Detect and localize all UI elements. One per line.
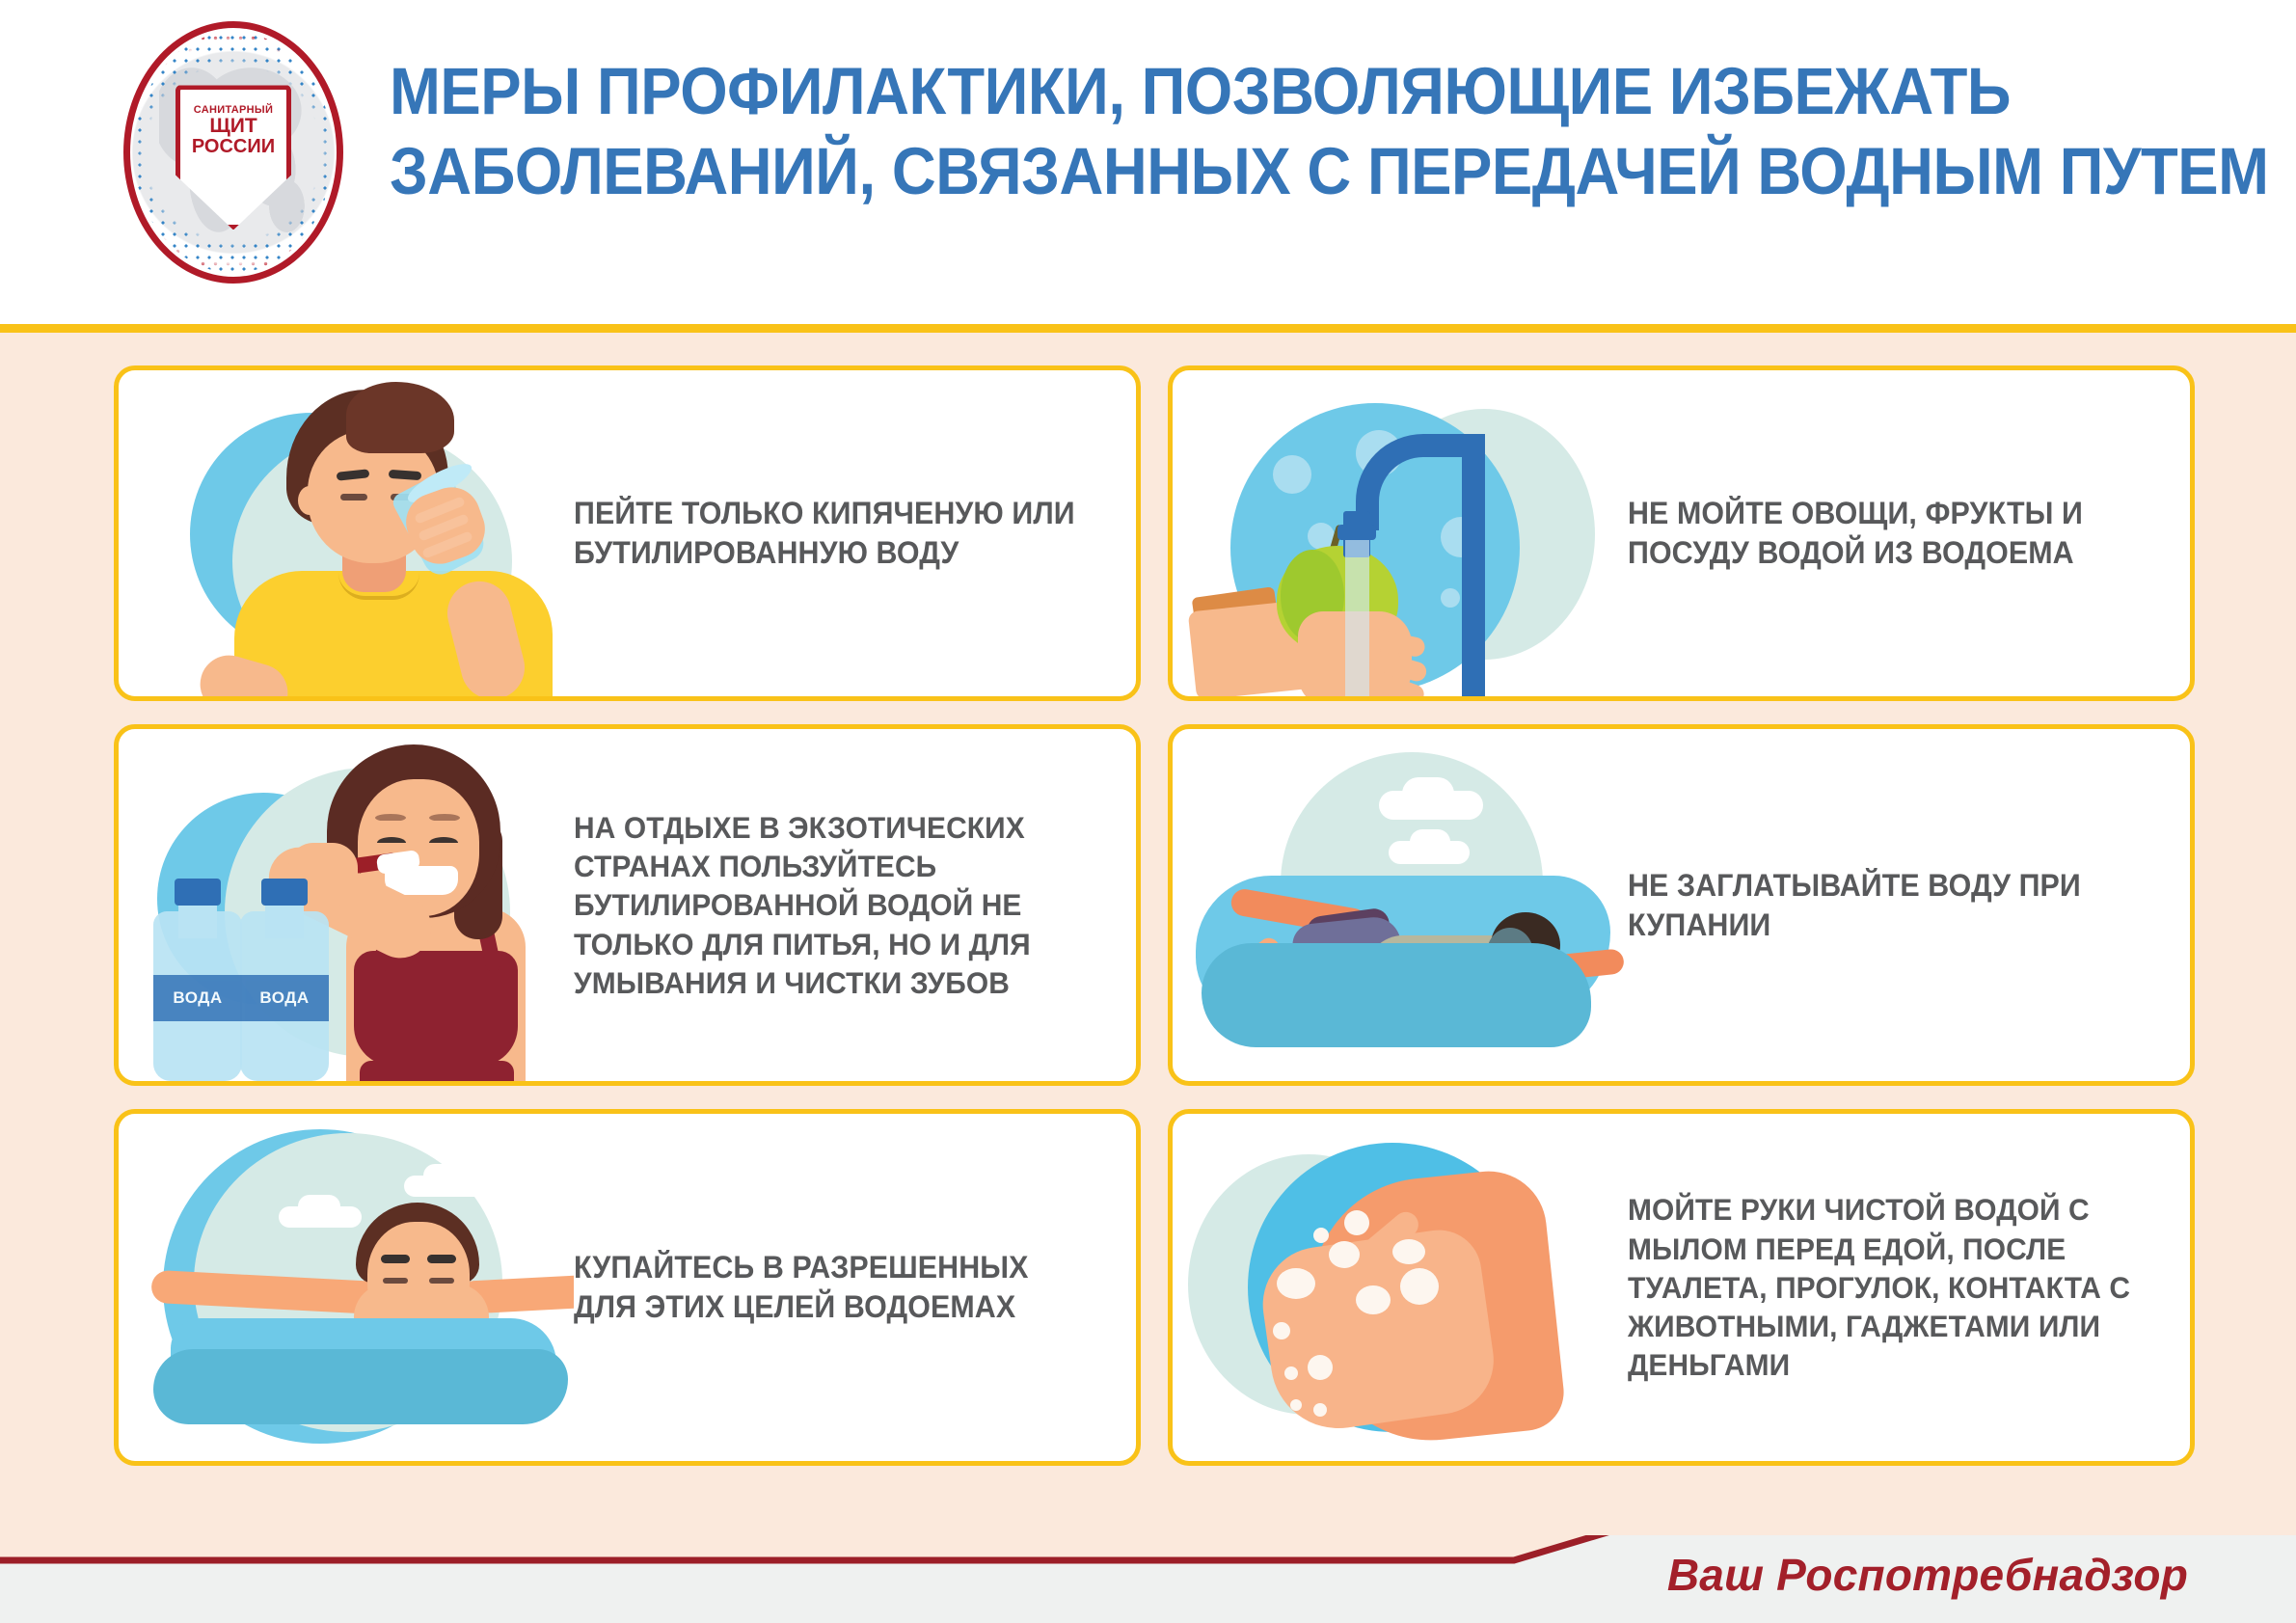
advice-card-use-bottled-water-abroad[interactable]: ВОДА ВОДА НА ОТДЫХЕ В ЭКЗОТИЧЕСКИХ СТРАН… xyxy=(114,724,1141,1086)
advice-text: НЕ ЗАГЛАТЫВАЙТЕ ВОДУ ПРИ КУПАНИИ xyxy=(1628,866,2162,945)
logo-text-group: САНИТАРНЫЙ ЩИТ РОССИИ xyxy=(176,85,291,230)
bottle-label: ВОДА xyxy=(259,988,309,1008)
logo-line-2: ЩИТ xyxy=(209,116,257,137)
illustration-boy-drinking-water xyxy=(119,370,574,696)
water-bottle-right: ВОДА xyxy=(240,879,329,1081)
sanitary-shield-logo: САНИТАРНЫЙ ЩИТ РОССИИ xyxy=(123,21,343,284)
logo-line-3: РОССИИ xyxy=(192,137,275,157)
advice-card-wash-hands-with-soap[interactable]: МОЙТЕ РУКИ ЧИСТОЙ ВОДОЙ С МЫЛОМ ПЕРЕД ЕД… xyxy=(1168,1109,2195,1466)
illustration-hands-with-soap xyxy=(1173,1114,1628,1461)
advice-card-swim-in-permitted-places[interactable]: КУПАЙТЕСЬ В РАЗРЕШЕННЫХ ДЛЯ ЭТИХ ЦЕЛЕЙ В… xyxy=(114,1109,1141,1466)
advice-card-do-not-swallow-water[interactable]: НЕ ЗАГЛАТЫВАЙТЕ ВОДУ ПРИ КУПАНИИ xyxy=(1168,724,2195,1086)
advice-text: МОЙТЕ РУКИ ЧИСТОЙ ВОДОЙ С МЫЛОМ ПЕРЕД ЕД… xyxy=(1628,1190,2162,1385)
footer-signature: Ваш Роспотребнадзор xyxy=(1667,1549,2188,1601)
water-bottle-left: ВОДА xyxy=(153,879,242,1081)
content-panel: ПЕЙТЕ ТОЛЬКО КИПЯЧЕНУЮ ИЛИ БУТИЛИРОВАННУ… xyxy=(0,324,2296,1560)
page-title-line-2: ЗАБОЛЕВАНИЙ, СВЯЗАННЫХ С ПЕРЕДАЧЕЙ ВОДНЫ… xyxy=(390,136,2075,208)
illustration-woman-brushing-teeth: ВОДА ВОДА xyxy=(119,729,574,1081)
page-title: МЕРЫ ПРОФИЛАКТИКИ, ПОЗВОЛЯЮЩИЕ ИЗБЕЖАТЬ … xyxy=(390,56,2222,207)
advice-text: КУПАЙТЕСЬ В РАЗРЕШЕННЫХ ДЛЯ ЭТИХ ЦЕЛЕЙ В… xyxy=(574,1248,1108,1327)
bottle-label: ВОДА xyxy=(173,988,222,1008)
illustration-swimmer-front-crawl xyxy=(1173,729,1628,1081)
advice-text: ПЕЙТЕ ТОЛЬКО КИПЯЧЕНУЮ ИЛИ БУТИЛИРОВАННУ… xyxy=(574,494,1108,573)
illustration-swimmer-butterfly xyxy=(119,1114,574,1461)
advice-text: НА ОТДЫХЕ В ЭКЗОТИЧЕСКИХ СТРАНАХ ПОЛЬЗУЙ… xyxy=(574,808,1108,1003)
advice-card-grid: ПЕЙТЕ ТОЛЬКО КИПЯЧЕНУЮ ИЛИ БУТИЛИРОВАННУ… xyxy=(114,365,2195,1466)
header: САНИТАРНЫЙ ЩИТ РОССИИ МЕРЫ ПРОФИЛАКТИКИ,… xyxy=(0,0,2296,324)
advice-card-do-not-wash-produce-in-pond[interactable]: НЕ МОЙТЕ ОВОЩИ, ФРУКТЫ И ПОСУДУ ВОДОЙ ИЗ… xyxy=(1168,365,2195,701)
illustration-washing-apple-under-tap xyxy=(1173,370,1628,696)
advice-card-drink-boiled-water[interactable]: ПЕЙТЕ ТОЛЬКО КИПЯЧЕНУЮ ИЛИ БУТИЛИРОВАННУ… xyxy=(114,365,1141,701)
advice-text: НЕ МОЙТЕ ОВОЩИ, ФРУКТЫ И ПОСУДУ ВОДОЙ ИЗ… xyxy=(1628,494,2162,573)
page-title-line-1: МЕРЫ ПРОФИЛАКТИКИ, ПОЗВОЛЯЮЩИЕ ИЗБЕЖАТЬ xyxy=(390,56,2075,128)
